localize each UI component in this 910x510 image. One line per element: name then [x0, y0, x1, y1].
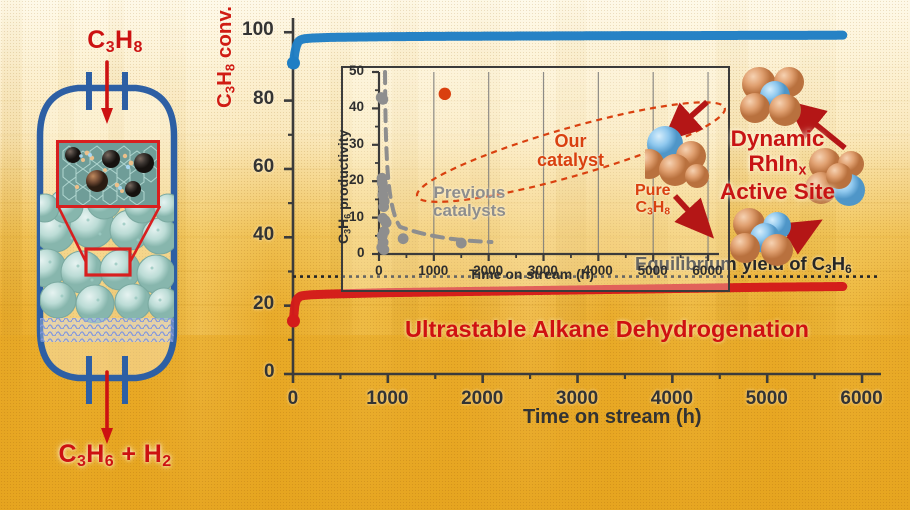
x-tick-label: 0	[288, 388, 299, 410]
x-tick-label: 3000	[556, 388, 598, 410]
reactor-schematic: C3H8 C3H6 + H2	[0, 0, 230, 510]
inset-y-tick-label: 10	[349, 209, 364, 224]
y-tick-label: 0	[264, 361, 275, 383]
cycle-line-1: Dynamic	[731, 126, 825, 151]
y-tick-label: 60	[253, 156, 274, 178]
cluster-top	[740, 67, 804, 126]
catalytic-cycle: Dynamic RhInx Active Site	[645, 62, 910, 312]
banner-ultrastable: Ultrastable Alkane Dehydrogenation	[405, 316, 809, 343]
cluster-bottom	[730, 208, 793, 266]
x-tick-label: 6000	[840, 388, 882, 410]
our-catalyst-label: Ourcatalyst	[537, 132, 604, 171]
x-tick-label: 5000	[746, 388, 788, 410]
cycle-caption: Dynamic RhInx Active Site	[645, 126, 910, 205]
cycle-line-2: RhInx	[748, 151, 806, 176]
inset-y-tick-label: 50	[349, 63, 364, 78]
y-tick-label: 80	[253, 88, 274, 110]
graphical-abstract: C3H8 C3H6 + H2	[0, 0, 910, 510]
reactor-drawing	[0, 0, 230, 510]
inset-y-tick-label: 20	[349, 172, 364, 187]
previous-catalysts-label: Previouscatalysts	[433, 184, 506, 221]
inset-x-tick-label: 2000	[473, 263, 503, 278]
x-tick-label: 4000	[651, 388, 693, 410]
inset-x-tick-label: 1000	[418, 263, 448, 278]
inset-y-tick-label: 30	[349, 136, 364, 151]
inset-x-tick-label: 0	[375, 263, 383, 278]
y-axis-label: C3H8 conv. or C3H6 select. (%)	[213, 0, 237, 108]
inset-y-tick-label: 0	[357, 245, 365, 260]
x-tick-label: 1000	[366, 388, 408, 410]
inset-x-tick-label: 4000	[583, 263, 613, 278]
inset-x-tick-label: 3000	[528, 263, 558, 278]
cycle-line-3: Active Site	[720, 179, 835, 204]
y-tick-label: 40	[253, 224, 274, 246]
y-tick-label: 100	[242, 19, 274, 41]
x-tick-label: 2000	[461, 388, 503, 410]
atomic-structure-inset	[56, 140, 160, 208]
y-tick-label: 20	[253, 293, 274, 315]
inset-y-tick-label: 40	[349, 99, 364, 114]
